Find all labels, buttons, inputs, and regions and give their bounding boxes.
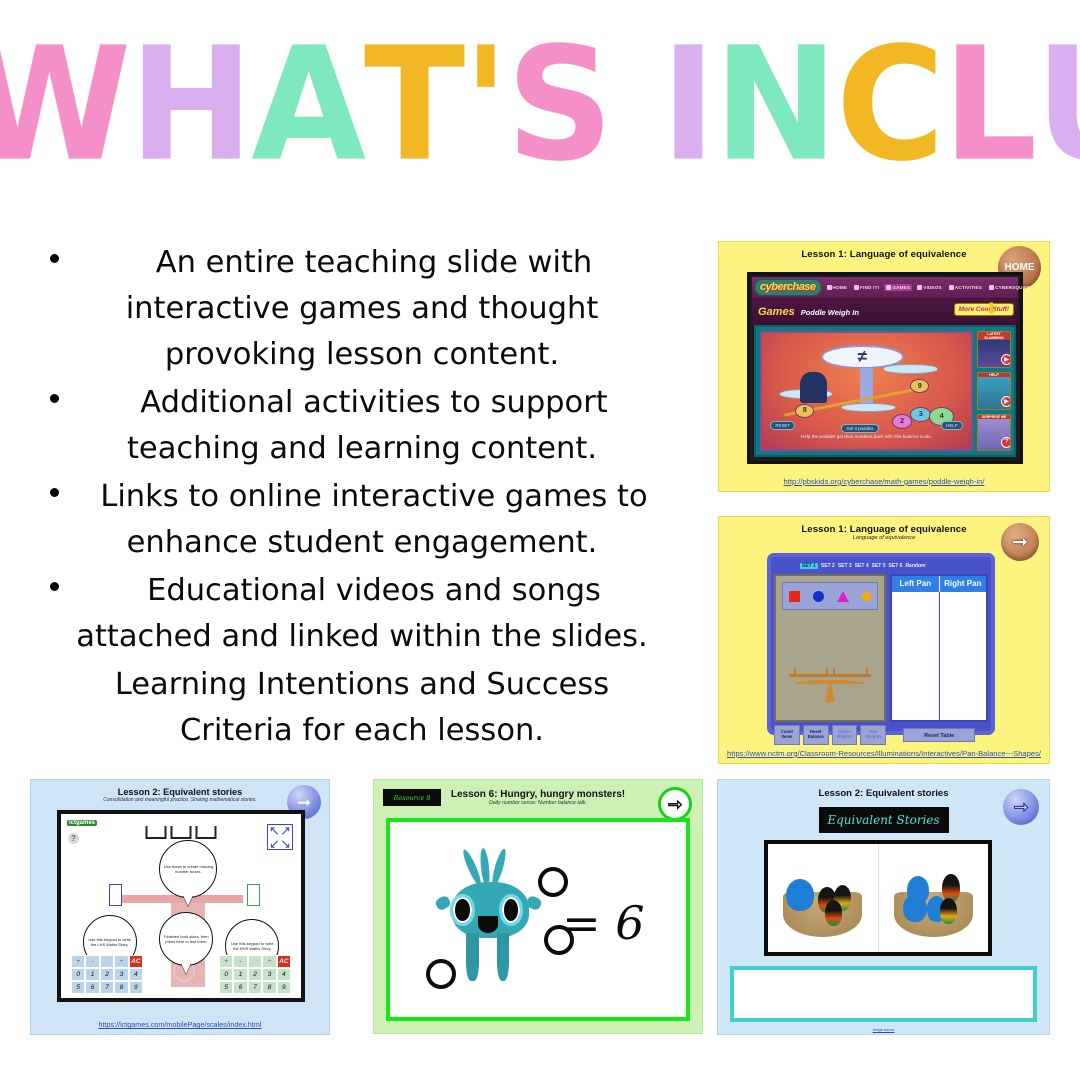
feature-item: An entire teaching slide withinteractive… [28, 240, 696, 378]
title-letter-1: H [129, 22, 251, 190]
title-letter-2: A [251, 22, 364, 190]
cyberchase-screenshot: cyberchase HOME FIND IT! GAMES VIDEOS AC… [747, 272, 1023, 464]
keypad-lhs[interactable]: + - ÷ AC 0 1 2 3 4 5 6 7 8 [71, 955, 143, 994]
reset-balance-button[interactable]: Reset Balance [803, 725, 829, 745]
thumbnail-cyberchase-slide[interactable]: Lesson 1: Language of equivalence HOME c… [718, 241, 1050, 492]
key-7[interactable]: 7 [100, 981, 114, 994]
play-icon [917, 285, 922, 290]
next-slide-button[interactable]: ➞ [1001, 523, 1039, 561]
feature-item: Additional activities to supportteaching… [28, 380, 696, 472]
counter-ring[interactable] [538, 867, 568, 897]
reset-table-wrap: Reset Table [890, 725, 988, 745]
scales-subheading: Consolidation and meaningful practice. S… [31, 797, 329, 803]
game-title: Poddle Weigh In [801, 308, 859, 317]
stories-banner: Equivalent Stories [819, 807, 949, 833]
panbalance-tabs: SET 1 SET 2 SET 3 SET 4 SET 5 SET 6 Rand… [774, 560, 988, 572]
next-slide-button[interactable]: ➞ [1003, 789, 1039, 825]
home-icon [827, 285, 832, 290]
key-blank[interactable] [100, 955, 114, 968]
cyberchase-stage: ≠ 8 9 2 3 4 RESET Get it poddles HELP He… [754, 325, 1016, 457]
keypad-row: 0 1 2 3 4 [219, 968, 291, 981]
table-column-left [892, 592, 938, 720]
weight-ball-3[interactable]: 3 [910, 407, 931, 422]
keypad-row: 5 6 7 8 9 [71, 981, 143, 994]
magenta-triangle-icon[interactable] [837, 591, 849, 602]
scale-tick-mid-right [833, 668, 835, 676]
ictgames-logo: ictgames [67, 820, 97, 826]
ictgames-logo-text: ictgames [67, 820, 97, 826]
key-ac[interactable]: AC [277, 955, 291, 968]
monster-mouth [478, 916, 498, 933]
monster-leg [497, 933, 509, 981]
sidebar-card-surprise[interactable]: SURPRISE ME ? [977, 414, 1011, 451]
scales-heading: Lesson 2: Equivalent stories [31, 780, 329, 797]
title-letter-9: C [836, 22, 943, 190]
monster-eye [499, 894, 523, 925]
reset-table-button[interactable]: Reset Table [903, 728, 975, 742]
rainbow-bird [825, 900, 843, 926]
blue-circle-icon[interactable] [813, 591, 824, 602]
key-minus[interactable]: - [85, 955, 99, 968]
key-5[interactable]: 5 [219, 981, 233, 994]
story-response-box[interactable] [730, 966, 1037, 1022]
fullscreen-icon[interactable]: ↖↗ ↙↘ [267, 824, 293, 850]
features-list: An entire teaching slide withinteractive… [28, 240, 696, 756]
title-letter-7: I [661, 22, 714, 190]
key-1[interactable]: 1 [85, 968, 99, 981]
key-2[interactable]: 2 [100, 968, 114, 981]
nest-photo [764, 840, 992, 956]
key-1[interactable]: 1 [233, 968, 247, 981]
blue-bird [903, 894, 927, 922]
counter-ring[interactable] [426, 959, 456, 989]
weight-ball-8[interactable]: 8 [795, 404, 814, 418]
panbalance-controls: Count Items Reset Balance Guess Weights … [774, 725, 886, 745]
balance-scale [789, 668, 871, 702]
feature-line: Criteria for each lesson. [28, 708, 696, 754]
thumbnail-scales-slide[interactable]: Lesson 2: Equivalent stories Consolidati… [30, 779, 330, 1035]
play-icon[interactable]: ▶ [1001, 396, 1011, 407]
gamepad-icon [886, 285, 891, 290]
key-ac[interactable]: AC [129, 955, 143, 968]
arrow-right-icon: ➞ [297, 794, 311, 811]
scale-tick-left [794, 668, 796, 676]
feature-line: Learning Intentions and Success [28, 662, 696, 708]
sidebar-card-label: SURPRISE ME [978, 415, 1010, 419]
key-minus[interactable]: - [233, 955, 247, 968]
equation-display: = 6 [562, 896, 644, 950]
weight-ball-2[interactable]: 2 [892, 414, 913, 429]
key-8[interactable]: 8 [114, 981, 128, 994]
key-4[interactable]: 4 [277, 968, 291, 981]
title-letter-4: ' [463, 22, 506, 190]
panbalance-workspace[interactable] [774, 574, 886, 722]
panbalance-body: Left Pan Right Pan [774, 574, 988, 722]
page-title: WHAT'S INCLUDED [0, 22, 1080, 190]
count-items-button[interactable]: Count Items [774, 725, 800, 745]
get-it-button[interactable]: Get it poddles [841, 424, 878, 433]
title-letter-8: N [714, 22, 836, 190]
key-0[interactable]: 0 [71, 968, 85, 981]
key-9[interactable]: 9 [277, 981, 291, 994]
feature-line: enhance student engagement. [28, 520, 696, 566]
next-slide-button[interactable]: ➞ [658, 787, 692, 821]
keypad-row: 0 1 2 3 4 [71, 968, 143, 981]
key-2[interactable]: 2 [248, 968, 262, 981]
blue-bird [786, 879, 814, 911]
down-arrow-icon: ⬇ [985, 299, 998, 319]
nav-item-videos[interactable]: VIDEOS [915, 284, 944, 291]
tab-set-4[interactable]: SET 4 [855, 563, 869, 569]
nav-item-activities[interactable]: ACTIVITIES [947, 284, 984, 291]
nav-item-home[interactable]: HOME [825, 284, 850, 291]
arrow-right-icon: ➞ [1013, 798, 1028, 816]
key-3[interactable]: 3 [114, 968, 128, 981]
panbalance-footer: Count Items Reset Balance Guess Weights … [774, 725, 988, 745]
table-body [892, 592, 986, 720]
question-mark-icon[interactable]: ? [68, 833, 79, 844]
keypad-row: 5 6 7 8 9 [219, 981, 291, 994]
orange-diamond-icon[interactable] [860, 590, 873, 603]
title-letter-5: S [506, 22, 611, 190]
nav-item-cybersquad[interactable]: CYBERSQUAD [987, 284, 1032, 291]
title-letter-3: T [364, 22, 463, 190]
play-icon[interactable]: ▶ [1001, 354, 1011, 365]
new-weights-button[interactable]: New Weights [860, 725, 886, 745]
sidebar-card-label: LATEST SLAMMING [978, 332, 1010, 340]
question-mark-icon[interactable]: ? [1001, 437, 1011, 448]
search-icon [854, 285, 859, 290]
key-divide[interactable]: ÷ [262, 955, 276, 968]
panbalance-subheading: Language of equivalence [719, 535, 1049, 541]
tab-set-5[interactable]: SET 5 [872, 563, 886, 569]
keypad-row: + - ÷ AC [71, 955, 143, 968]
key-5[interactable]: 5 [71, 981, 85, 994]
activities-icon [949, 285, 954, 290]
number-box[interactable] [171, 826, 192, 839]
lhs-answer-box[interactable] [109, 884, 122, 906]
nav-item-games[interactable]: GAMES [884, 284, 912, 291]
key-9[interactable]: 9 [129, 981, 143, 994]
feature-item: Educational videos and songsattached and… [28, 568, 696, 660]
monster-board: = 6 [386, 818, 690, 1021]
cyberchase-sidebar: LATEST SLAMMING ▶ HELP ▶ SURPRISE ME ? [977, 331, 1011, 451]
tab-set-3[interactable]: SET 3 [838, 563, 852, 569]
key-plus[interactable]: + [71, 955, 85, 968]
title-letter-0: W [0, 22, 129, 190]
thumbnail-pan-balance-slide[interactable]: Lesson 1: Language of equivalence Langua… [718, 516, 1050, 764]
cyberchase-logo: cyberchase [754, 279, 822, 296]
feature-line: Links to online interactive games to [28, 474, 696, 520]
panbalance-app: SET 1 SET 2 SET 3 SET 4 SET 5 SET 6 Rand… [767, 553, 995, 735]
stories-footer-link[interactable]: Image source [718, 1028, 1049, 1032]
rainbow-bird [940, 898, 958, 924]
missing-number-boxes[interactable] [146, 826, 217, 839]
bullet-dot-icon [50, 254, 59, 263]
reset-button[interactable]: RESET [770, 421, 795, 430]
bullet-dot-icon [50, 582, 59, 591]
number-box[interactable] [146, 826, 167, 839]
arrow-right-icon: ➞ [668, 796, 682, 813]
key-6[interactable]: 6 [233, 981, 247, 994]
arrow-right-icon: ➞ [1012, 533, 1028, 552]
scales-url-link[interactable]: https://ictgames.com/mobilePage/scales/i… [31, 1020, 329, 1029]
hint-bubble-boxes: Use these to create missing number boxes… [159, 840, 217, 898]
feature-line: An entire teaching slide with [28, 240, 696, 286]
game-help-text: Help the poddles get their numbers back … [762, 434, 971, 439]
key-plus[interactable]: + [219, 955, 233, 968]
feature-line: Additional activities to support [28, 380, 696, 426]
red-square-icon[interactable] [789, 591, 800, 602]
feature-line: interactive games and thought [28, 286, 696, 332]
resource-badge: Resource 8 [383, 789, 441, 806]
key-4[interactable]: 4 [129, 968, 143, 981]
feature-line: provoking lesson content. [28, 332, 696, 378]
balance-game-area[interactable]: ≠ 8 9 2 3 4 RESET Get it poddles HELP He… [760, 331, 973, 451]
table-column-right [939, 592, 986, 720]
sidebar-card-help[interactable]: HELP ▶ [977, 372, 1011, 409]
cyberchase-navbar: cyberchase HOME FIND IT! GAMES VIDEOS AC… [752, 277, 1018, 299]
cyberchase-url-link[interactable]: http://pbskids.org/cyberchase/math-games… [719, 477, 1049, 486]
squad-icon [989, 285, 994, 290]
slide-canvas: WHAT'S INCLUDED An entire teaching slide… [0, 0, 1080, 1080]
tab-set-6[interactable]: SET 6 [889, 563, 903, 569]
column-header-left-pan: Left Pan [892, 576, 938, 592]
monster-eye [450, 894, 474, 925]
tab-set-1[interactable]: SET 1 [800, 563, 818, 569]
tab-random[interactable]: Random [905, 563, 925, 569]
stories-heading: Lesson 2: Equivalent stories [718, 780, 1049, 799]
scale-beam [789, 674, 871, 677]
keypad-row: + - ÷ AC [219, 955, 291, 968]
panbalance-table: Left Pan Right Pan [890, 574, 988, 722]
feature-item: Links to online interactive games toenha… [28, 474, 696, 566]
feature-line: Educational videos and songs [28, 568, 696, 614]
nest-image-left [768, 844, 878, 952]
sidebar-card-latest[interactable]: LATEST SLAMMING ▶ [977, 331, 1011, 368]
key-7[interactable]: 7 [248, 981, 262, 994]
key-blank[interactable] [248, 955, 262, 968]
scale-tick-mid-left [826, 668, 828, 676]
key-0[interactable]: 0 [219, 968, 233, 981]
tab-set-2[interactable]: SET 2 [821, 563, 835, 569]
rhs-answer-box[interactable] [247, 884, 260, 906]
table-header-row: Left Pan Right Pan [892, 576, 986, 592]
key-6[interactable]: 6 [85, 981, 99, 994]
nav-item-find-it[interactable]: FIND IT! [852, 284, 881, 291]
key-divide[interactable]: ÷ [114, 955, 128, 968]
panbalance-url-link[interactable]: https://www.nctm.org/Classroom-Resources… [719, 749, 1049, 758]
number-box[interactable] [196, 826, 217, 839]
monster-leg [466, 933, 478, 981]
column-header-right-pan: Right Pan [939, 576, 986, 592]
thumbnail-stories-slide[interactable]: Lesson 2: Equivalent stories Equivalent … [717, 779, 1050, 1035]
scale-stand [825, 682, 835, 702]
feature-line: teaching and learning content. [28, 426, 696, 472]
key-8[interactable]: 8 [262, 981, 276, 994]
feature-item: Learning Intentions and SuccessCriteria … [28, 662, 696, 754]
key-3[interactable]: 3 [262, 968, 276, 981]
bullet-dot-icon [50, 394, 59, 403]
title-letter-6 [611, 22, 661, 190]
weight-ball-9[interactable]: 9 [910, 379, 929, 393]
monster-character [440, 853, 541, 974]
hint-bubble-test: Finished both sides, then press here to … [159, 912, 213, 966]
scale-tick-right [866, 668, 868, 676]
bullet-dot-icon [50, 488, 59, 497]
title-letter-10: L [943, 22, 1035, 190]
panbalance-heading: Lesson 1: Language of equivalence [719, 517, 1049, 535]
scale-pan-right [883, 364, 937, 373]
help-button[interactable]: HELP [941, 421, 962, 430]
keypad-rhs[interactable]: + - ÷ AC 0 1 2 3 4 5 6 7 8 [219, 955, 291, 994]
cyberchase-subbar: Games Poddle Weigh In More Cool Stuff! [752, 299, 1018, 325]
thumbnail-monster-slide[interactable]: Resource 8 Lesson 6: Hungry, hungry mons… [373, 779, 703, 1034]
shape-palette [782, 582, 878, 610]
nest-image-right [878, 844, 989, 952]
character-poddle [800, 372, 827, 402]
title-letter-11: U [1035, 22, 1080, 190]
section-label: Games [758, 306, 795, 318]
guess-weights-button[interactable]: Guess Weights [832, 725, 858, 745]
feature-line: attached and linked within the slides. [28, 614, 696, 660]
scales-app: ictgames ? ↖↗ ↙↘ Use these to create mis… [57, 810, 305, 1002]
scale-pan-base [841, 403, 895, 412]
